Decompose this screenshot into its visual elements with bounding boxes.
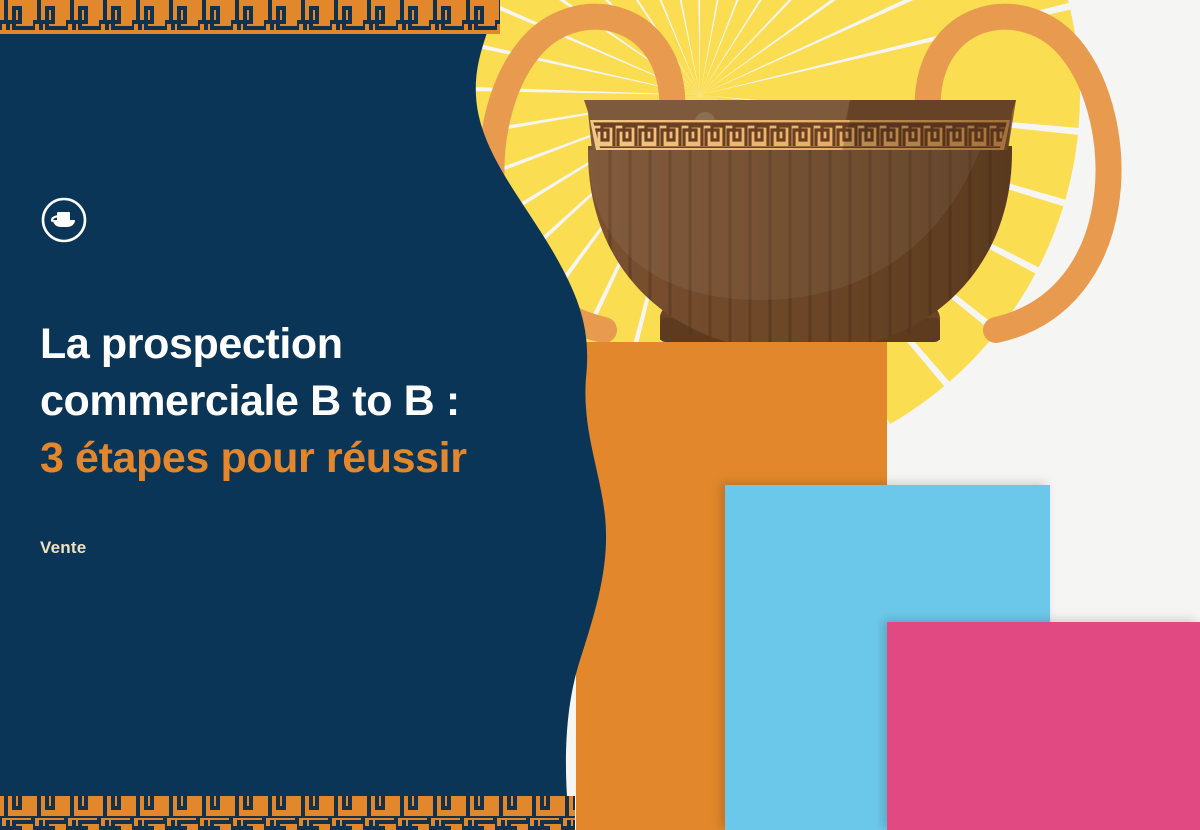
- title-accent-line: 3 étapes pour réussir: [40, 430, 560, 487]
- title-line-2: commerciale B to B :: [40, 377, 460, 425]
- page-title: La prospection commerciale B to B : 3 ét…: [40, 316, 560, 488]
- article-copy: La prospection commerciale B to B : 3 ét…: [40, 196, 560, 558]
- category-label[interactable]: Vente: [40, 538, 560, 558]
- meander-border-bottom: [0, 796, 575, 830]
- greek-cup-logo-icon[interactable]: [40, 196, 88, 244]
- title-line-1: La prospection: [40, 320, 343, 368]
- poster-canvas: La prospection commerciale B to B : 3 ét…: [0, 0, 1200, 830]
- meander-border-top: [0, 0, 500, 34]
- third-place-block: [887, 622, 1200, 830]
